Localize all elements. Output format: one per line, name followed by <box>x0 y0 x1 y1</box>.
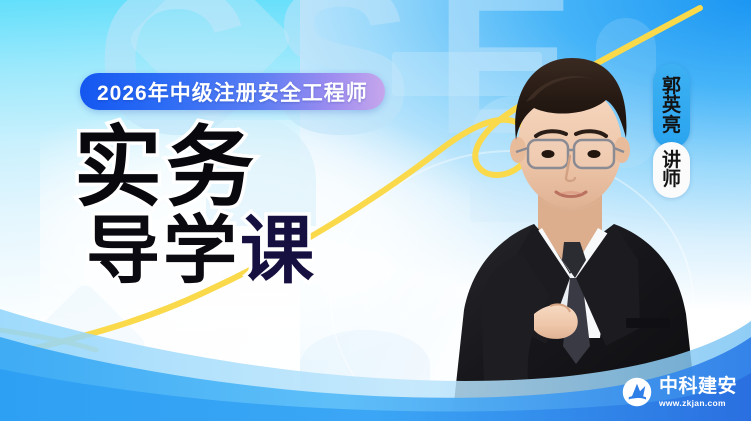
instructor-role-char-2: 师 <box>662 170 681 189</box>
instructor-name-char-1: 郭 <box>662 77 681 96</box>
brand-logo-text: 中科建安 www.zkjan.com <box>659 377 737 408</box>
course-subtitle-banner: 2026年中级注册安全工程师 <box>80 73 385 110</box>
brand-logo: 中科建安 www.zkjan.com <box>622 377 737 408</box>
instructor-role-pill: 讲 师 <box>653 142 690 198</box>
course-title-line2: 导学课 <box>86 214 317 288</box>
course-title-line2-part2: 课 <box>240 209 317 292</box>
course-title-line1: 实务 <box>74 126 317 210</box>
brand-name: 中科建安 <box>659 377 737 396</box>
instructor-role-char-1: 讲 <box>662 151 681 170</box>
course-subtitle-text: 2026年中级注册安全工程师 <box>97 77 368 107</box>
course-cover-poster: CSE <box>0 0 751 421</box>
instructor-name-pill: 郭 英 亮 <box>653 64 690 148</box>
instructor-name-char-2: 英 <box>662 96 681 115</box>
brand-url: www.zkjan.com <box>659 399 737 408</box>
instructor-name-char-3: 亮 <box>662 116 681 135</box>
course-title-line2-part1: 导学 <box>86 209 240 292</box>
course-title-group: 实务 导学课 <box>74 126 317 288</box>
circle-arrow-logo-icon <box>622 377 652 407</box>
